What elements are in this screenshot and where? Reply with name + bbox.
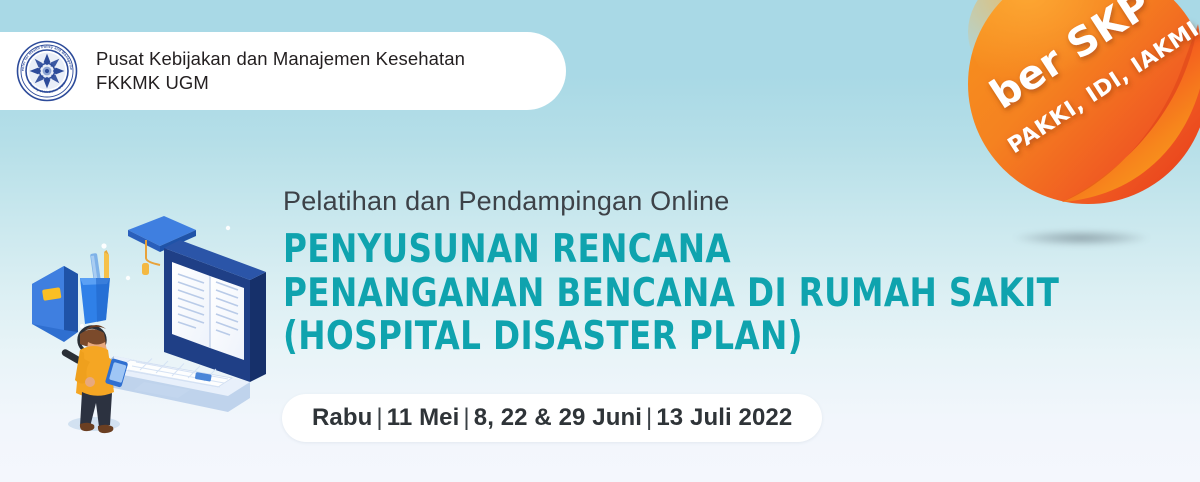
- event-date-text: Rabu|11 Mei|8, 22 & 29 Juni|13 Juli 2022: [312, 404, 792, 432]
- date-separator-3: |: [642, 404, 656, 431]
- date-separator-1: |: [372, 404, 386, 431]
- date-part-1: 11 Mei: [387, 404, 460, 431]
- event-copy-block: Pelatihan dan Pendampingan Online PENYUS…: [283, 186, 1163, 359]
- date-part-3: 13 Juli 2022: [656, 404, 792, 431]
- headline-line-1: PENYUSUNAN RENCANA: [283, 228, 1101, 272]
- headline-line-2: PENANGANAN BENCANA DI RUMAH SAKIT: [283, 272, 1101, 316]
- headline-line-3: (HOSPITAL DISASTER PLAN): [283, 315, 1101, 359]
- organization-header-pill: Center for Health Policy and Management …: [0, 32, 566, 110]
- event-date-pill: Rabu|11 Mei|8, 22 & 29 Juni|13 Juli 2022: [282, 394, 822, 442]
- event-headline: PENYUSUNAN RENCANA PENANGANAN BENCANA DI…: [283, 228, 1101, 359]
- date-part-2: 8, 22 & 29 Juni: [474, 404, 642, 431]
- organization-line-1: Pusat Kebijakan dan Manajemen Kesehatan: [96, 47, 465, 71]
- isometric-online-learning-illustration: [18, 206, 286, 446]
- organization-name: Pusat Kebijakan dan Manajemen Kesehatan …: [96, 47, 465, 96]
- date-day: Rabu: [312, 404, 372, 431]
- event-banner: Center for Health Policy and Management …: [0, 0, 1200, 482]
- event-eyebrow: Pelatihan dan Pendampingan Online: [283, 186, 1163, 217]
- chpm-ugm-seal-logo: Center for Health Policy and Management …: [16, 40, 78, 102]
- date-separator-2: |: [459, 404, 473, 431]
- organization-line-2: FKKMK UGM: [96, 71, 465, 95]
